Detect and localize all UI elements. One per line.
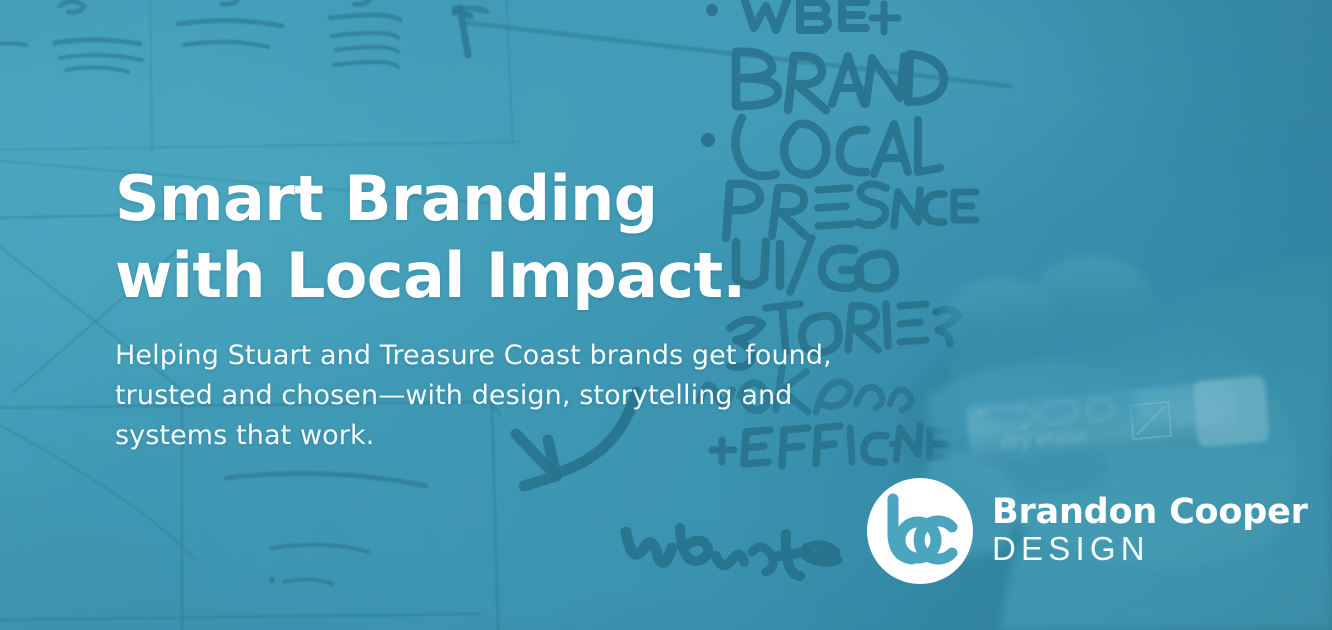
hero-banner: dry erase chisel Smart Branding with Loc… <box>0 0 1332 630</box>
headline-line-1: Smart Branding <box>115 160 935 237</box>
brand-logo-lockup[interactable]: Brandon Cooper DESIGN <box>866 477 1308 585</box>
subheading-line-3: systems that work. <box>115 416 855 456</box>
page-title: Smart Branding with Local Impact. <box>115 160 935 314</box>
bc-monogram-icon <box>866 477 974 585</box>
brand-tagline: DESIGN <box>992 531 1308 567</box>
hero-subheading: Helping Stuart and Treasure Coast brands… <box>115 336 855 456</box>
brand-name: Brandon Cooper <box>992 493 1308 531</box>
hero-copy-block: Smart Branding with Local Impact. Helpin… <box>115 160 935 456</box>
subheading-line-2: trusted and chosen—with design, storytel… <box>115 376 855 416</box>
headline-line-2: with Local Impact. <box>115 237 935 314</box>
brand-wordmark: Brandon Cooper DESIGN <box>992 493 1308 569</box>
subheading-line-1: Helping Stuart and Treasure Coast brands… <box>115 336 855 376</box>
